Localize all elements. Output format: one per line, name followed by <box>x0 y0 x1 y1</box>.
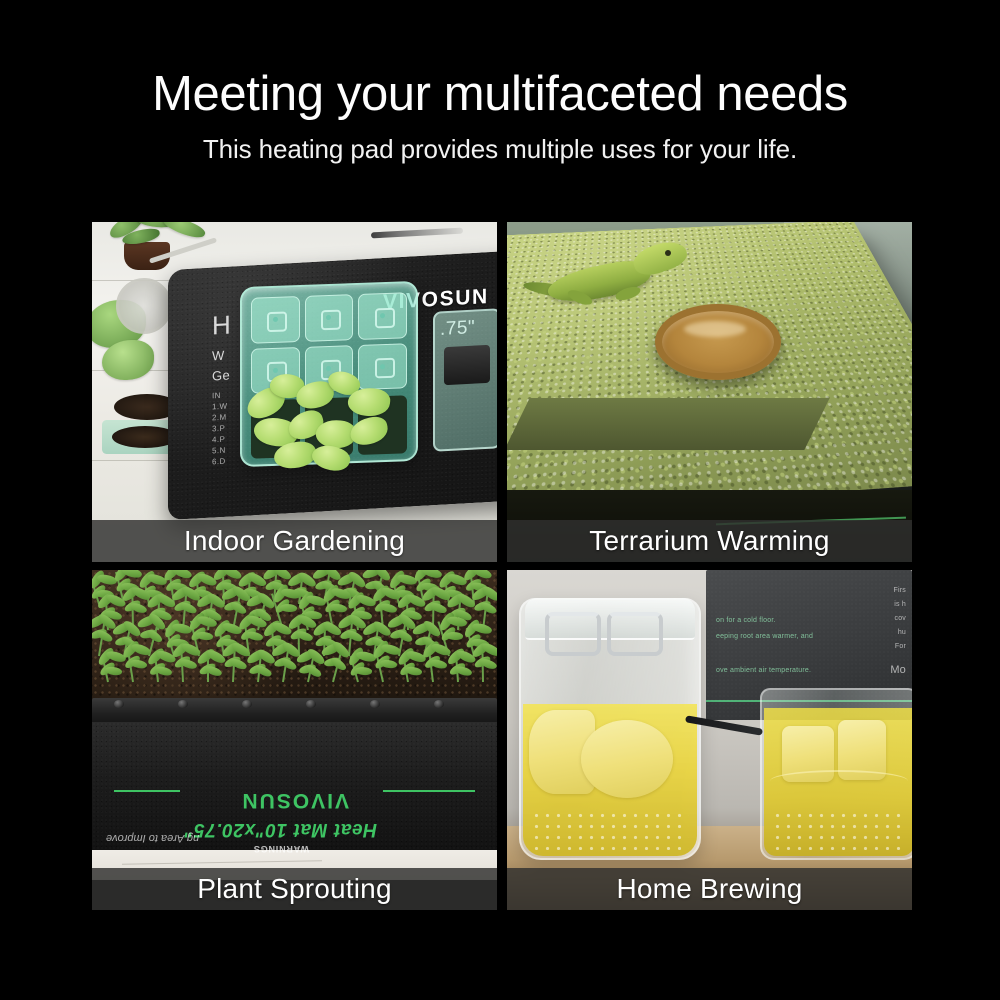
scene-plant-sprouting: VIVOSUN Heat Mat 10"x20.75" WARNINGS ng … <box>92 570 497 910</box>
scene-terrarium-warming <box>507 222 912 562</box>
panel-caption: Terrarium Warming <box>589 525 829 557</box>
liquid-surface-line <box>770 770 908 792</box>
tray-bead <box>114 700 124 708</box>
lemon-slice <box>581 720 673 798</box>
brand-label: VIVOSUN <box>240 788 349 812</box>
fermentation-jar-right <box>760 688 912 860</box>
package-text: ove ambient air temperature. <box>716 666 811 675</box>
mat-fine-print: IN1.W2.M3.P4.P5.N6.D <box>212 390 227 468</box>
tray-cell <box>358 292 407 339</box>
water-reflection <box>684 321 746 337</box>
panel-caption: Plant Sprouting <box>197 873 391 905</box>
improve-label: ng Area to Improve <box>106 832 199 844</box>
substrate-side <box>507 398 830 450</box>
mat-line-text: W <box>212 348 225 364</box>
sprout-leaf <box>445 631 463 642</box>
fermentation-jar-left <box>519 598 701 860</box>
sprout-leaf <box>379 658 397 670</box>
tray-bead <box>434 700 444 708</box>
sprout-leaf <box>195 630 213 642</box>
caption-bar: Plant Sprouting <box>92 868 497 910</box>
sprout-leaf <box>479 600 497 616</box>
mat-heading-text: H <box>212 317 231 333</box>
tray-cell <box>305 294 354 341</box>
panel-caption: Home Brewing <box>616 873 802 905</box>
tray-bead <box>178 700 188 708</box>
lizard <box>537 236 705 322</box>
package-text: cov <box>895 614 907 623</box>
lizard-eye <box>665 250 671 256</box>
water-dish <box>655 304 781 380</box>
caption-bar: Home Brewing <box>507 868 912 910</box>
tray-cell <box>251 296 300 343</box>
sprout-leaf <box>471 621 493 636</box>
model-label: Heat Mat 10"x20.75" <box>184 818 377 840</box>
tray-bead <box>370 700 380 708</box>
seedling-cluster <box>244 372 424 482</box>
panel-indoor-gardening[interactable]: H W Ge IN1.W2.M3.P4.P5.N6.D VIVOSUN .75" <box>92 222 497 562</box>
side-package <box>433 308 497 452</box>
sieve-icon <box>116 278 172 334</box>
product-feature-image: Meeting your multifaceted needs This hea… <box>0 0 1000 1000</box>
warnings-label: WARNINGS <box>253 844 309 854</box>
leaf <box>161 222 207 242</box>
sprout-leaf <box>329 602 347 614</box>
leaf <box>348 414 391 447</box>
scene-home-brewing: on for a cold floor. eeping root area wa… <box>507 570 912 910</box>
package-text: Mo <box>890 666 906 675</box>
panel-plant-sprouting[interactable]: VIVOSUN Heat Mat 10"x20.75" WARNINGS ng … <box>92 570 497 910</box>
panel-caption: Indoor Gardening <box>184 525 405 557</box>
scene-indoor-gardening: H W Ge IN1.W2.M3.P4.P5.N6.D VIVOSUN .75" <box>92 222 497 562</box>
use-case-grid: H W Ge IN1.W2.M3.P4.P5.N6.D VIVOSUN .75" <box>92 222 904 912</box>
package-text: For <box>895 642 906 651</box>
caption-bar: Terrarium Warming <box>507 520 912 562</box>
sprout-leaf <box>279 603 297 614</box>
page-subtitle: This heating pad provides multiple uses … <box>0 134 1000 164</box>
package-text: eeping root area warmer, and <box>716 632 813 641</box>
clamp-icon <box>545 612 601 656</box>
header: Meeting your multifaceted needs This hea… <box>0 0 1000 164</box>
seedling-rows <box>92 570 497 706</box>
rule-line <box>383 790 475 792</box>
tray-bead <box>242 700 252 708</box>
rule-line <box>114 790 180 792</box>
package-text: is h <box>894 600 906 609</box>
panel-home-brewing[interactable]: on for a cold floor. eeping root area wa… <box>507 570 912 910</box>
bubbles <box>531 810 689 850</box>
bubbles <box>772 810 906 850</box>
page-title: Meeting your multifaceted needs <box>0 68 1000 120</box>
caption-bar: Indoor Gardening <box>92 520 497 562</box>
package-text: hu <box>898 628 906 637</box>
panel-terrarium-warming[interactable]: Terrarium Warming <box>507 222 912 562</box>
package-text: on for a cold floor. <box>716 616 776 625</box>
package-text: Firs <box>894 586 906 595</box>
jar-liquid <box>764 708 912 856</box>
mat-printed-label: VIVOSUN Heat Mat 10"x20.75" WARNINGS ng … <box>92 758 497 850</box>
jar-liquid <box>523 704 697 856</box>
mat-line-text: Ge <box>212 367 230 383</box>
clamp-icon <box>607 612 663 656</box>
tray-bead <box>306 700 316 708</box>
